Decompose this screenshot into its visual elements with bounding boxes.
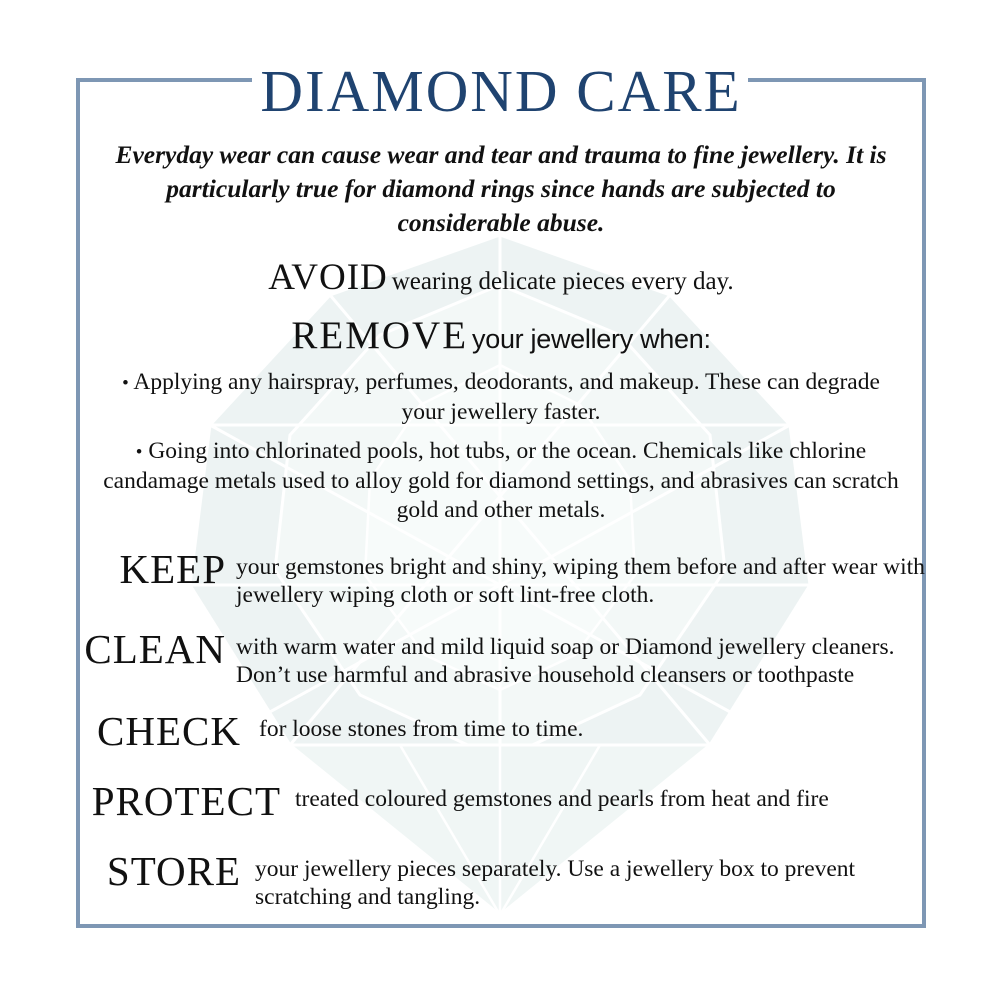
list-item: • Going into chlorinated pools, hot tubs… [76,437,926,525]
list-item: • Applying any hairspray, perfumes, deod… [76,368,926,427]
bullet-icon: • [122,373,129,394]
frame-bottom-rule [76,924,926,928]
care-step-protect: PROTECT treated coloured gemstones and p… [76,779,926,823]
keyword-keep: KEEP [76,547,226,591]
care-step-protect-text: treated coloured gemstones and pearls fr… [281,779,926,813]
care-step-keep: KEEP your gemstones bright and shiny, wi… [76,547,926,609]
care-step-check: CHECK for loose stones from time to time… [76,709,926,753]
keyword-clean: CLEAN [76,627,226,671]
care-step-check-text: for loose stones from time to time. [241,709,926,743]
bullet-icon: • [136,442,143,463]
lead-line-avoid: AVOID wearing delicate pieces every day. [76,256,926,299]
care-step-store-text: your jewellery pieces separately. Use a … [241,849,926,911]
remove-conditions-list: • Applying any hairspray, perfumes, deod… [76,368,926,525]
intro-paragraph: Everyday wear can cause wear and tear an… [102,138,900,240]
lead-line-remove: REMOVE your jewellery when: [76,313,926,358]
page-title: DIAMOND CARE [76,60,926,124]
keyword-protect: PROTECT [76,779,281,823]
diamond-care-poster: DIAMOND CARE Everyday wear can cause wea… [0,0,1000,1000]
care-step-clean: CLEAN with warm water and mild liquid so… [76,627,926,689]
list-item-text: Applying any hairspray, perfumes, deodor… [133,369,880,425]
care-step-clean-text: with warm water and mild liquid soap or … [226,627,926,689]
lead-text-avoid: wearing delicate pieces every day. [392,268,734,295]
poster-content: DIAMOND CARE Everyday wear can cause wea… [76,60,926,911]
care-step-keep-text: your gemstones bright and shiny, wiping … [226,547,926,609]
keyword-check: CHECK [76,709,241,753]
care-step-store: STORE your jewellery pieces separately. … [76,849,926,911]
list-item-text: Going into chlorinated pools, hot tubs, … [103,438,899,523]
keyword-remove: REMOVE [291,314,468,357]
lead-text-remove: your jewellery when: [472,324,711,354]
keyword-avoid: AVOID [268,257,387,298]
keyword-store: STORE [76,849,241,893]
